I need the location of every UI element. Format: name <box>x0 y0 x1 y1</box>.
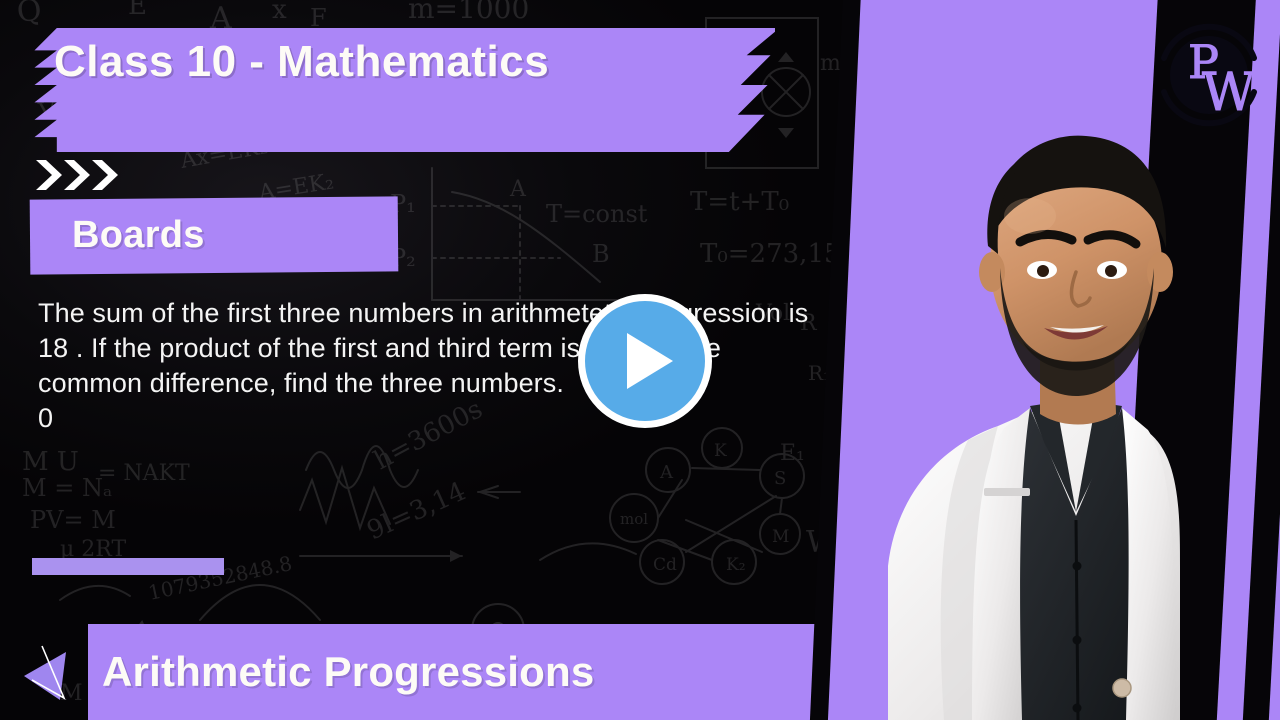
svg-text:M U: M U <box>22 447 79 477</box>
svg-text:T₀=273,15: T₀=273,15 <box>700 239 841 269</box>
svg-text:9l=3,14: 9l=3,14 <box>363 476 471 546</box>
double-chevron-right-icon <box>36 158 128 192</box>
svg-text:B: B <box>592 240 610 268</box>
pw-logo-icon: P W <box>1152 18 1266 132</box>
category-label: Boards <box>72 198 205 273</box>
play-button[interactable] <box>578 294 712 428</box>
play-triangle-icon <box>627 333 673 389</box>
svg-text:A: A <box>659 462 674 483</box>
svg-text:T=t+T₀: T=t+T₀ <box>690 187 789 217</box>
svg-text:K: K <box>714 441 727 461</box>
svg-text:K₂: K₂ <box>726 555 746 575</box>
svg-text:A: A <box>509 177 527 202</box>
svg-text:M: M <box>772 527 789 547</box>
svg-text:mol: mol <box>620 510 648 528</box>
svg-text:S: S <box>774 468 786 489</box>
course-title: Class 10 - Mathematics <box>54 0 549 124</box>
svg-text:T=const: T=const <box>546 200 648 228</box>
svg-text:Q: Q <box>15 0 43 30</box>
chapter-title: Arithmetic Progressions <box>102 624 594 720</box>
video-thumbnail: Q E A x F m=1000 V=x²+2 Ax=EK₂ A=EK₂ P₁ … <box>0 0 1280 720</box>
back-triangle-icon[interactable] <box>20 640 82 704</box>
decorative-underline-bar <box>32 558 224 575</box>
svg-text:PV= M: PV= M <box>30 506 116 534</box>
svg-text:Cd: Cd <box>653 555 677 575</box>
answer-value: 0 <box>38 401 828 436</box>
logo-letter-w: W <box>1202 63 1256 123</box>
instructor-photo <box>880 96 1240 720</box>
svg-text:= NAKT: = NAKT <box>98 461 190 486</box>
